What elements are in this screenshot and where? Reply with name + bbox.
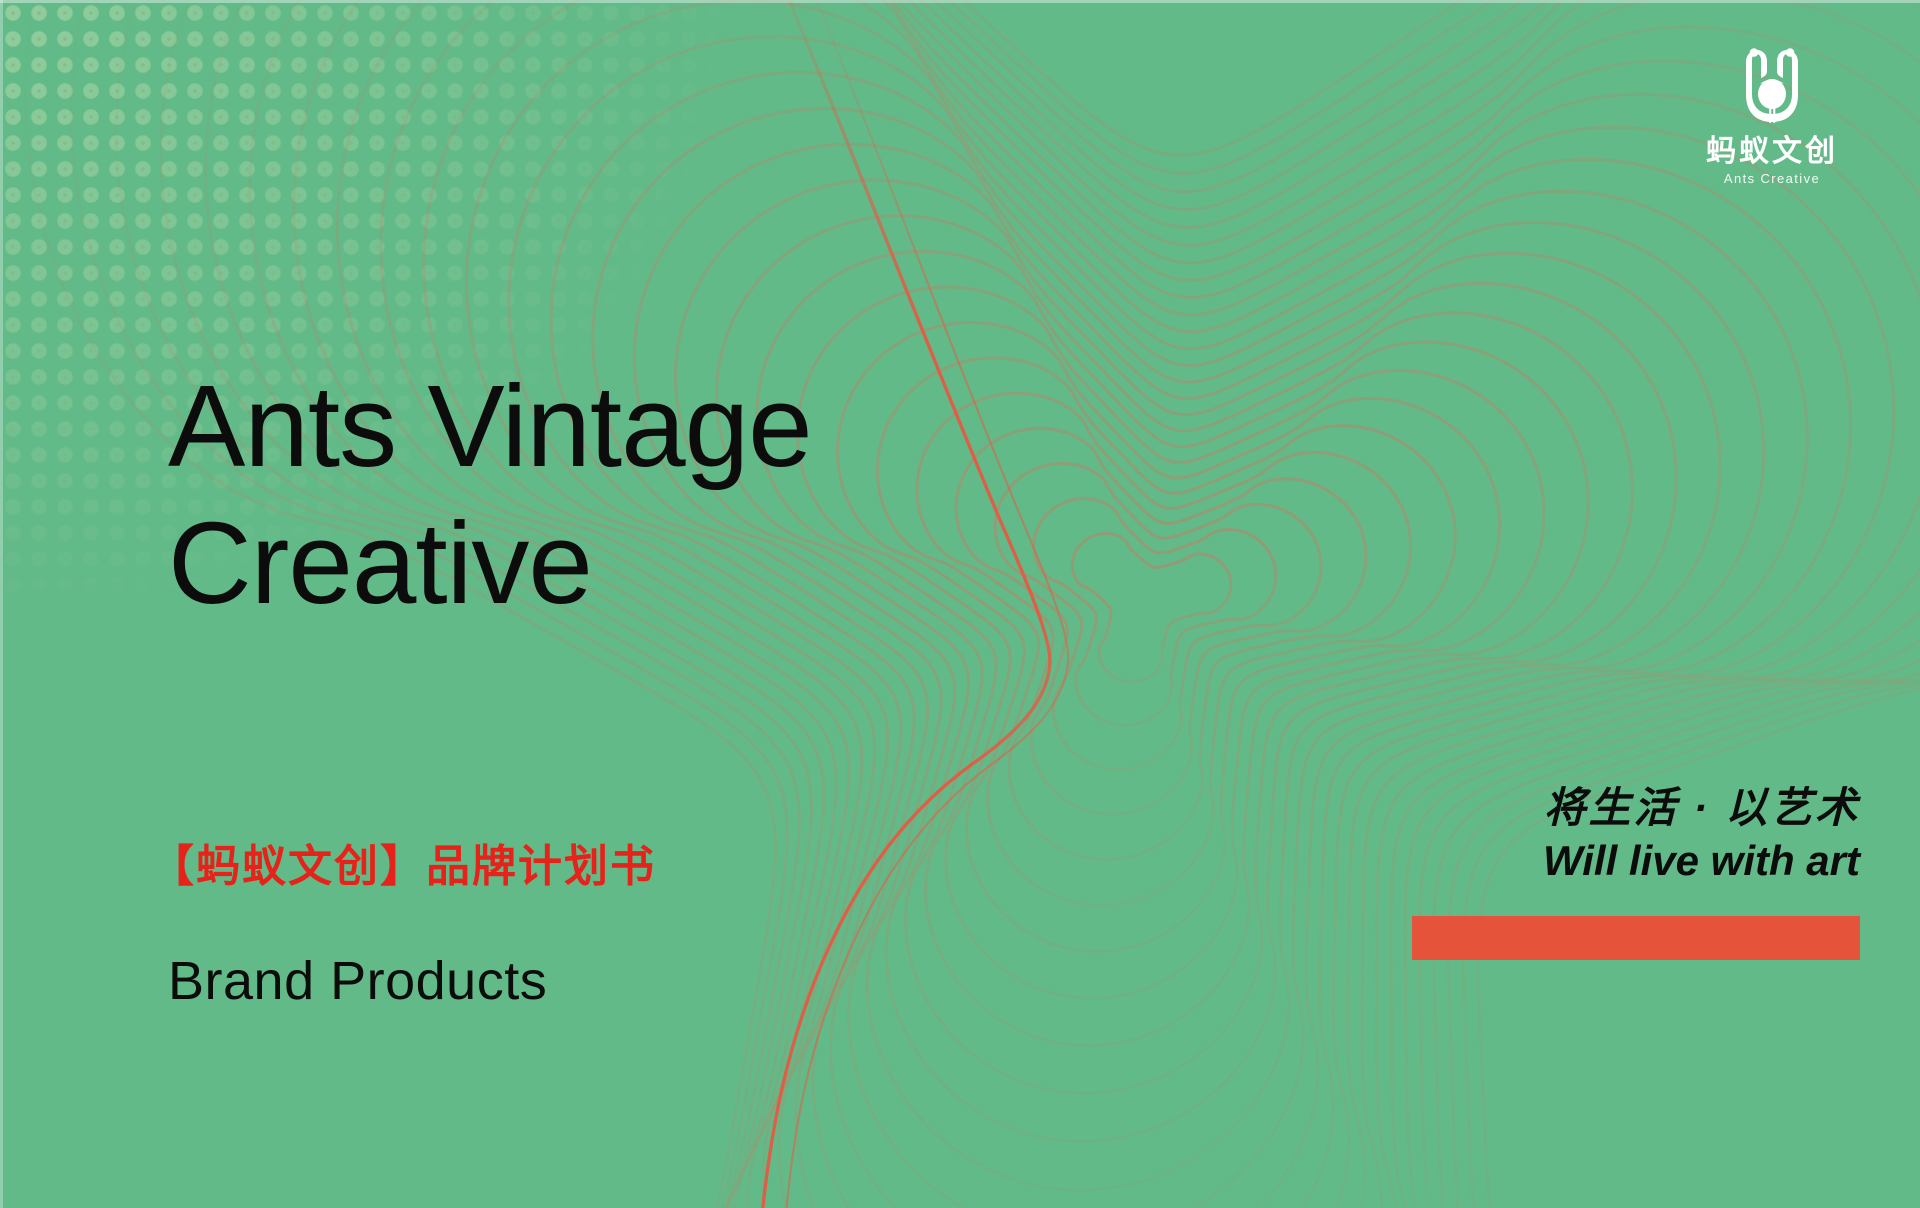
tagline-block: 将生活 · 以艺术 Will live with art	[1410, 782, 1860, 886]
brand-logo: 蚂蚁文创 Ants Creative	[1672, 48, 1872, 186]
contour-ring	[1069, 521, 1240, 687]
ants-magnet-mark	[1734, 48, 1810, 132]
title-line-1: Ants Vintage	[168, 358, 1068, 495]
tagline-english: Will live with art	[1410, 835, 1860, 886]
contour-ring	[1029, 478, 1291, 733]
title-slide: 蚂蚁文创 Ants Creative Ants Vintage Creative…	[0, 0, 1920, 1208]
title-line-2: Creative	[168, 495, 1068, 632]
top-border-rule	[0, 0, 1920, 3]
subtitle-english: Brand Products	[168, 950, 547, 1012]
logo-name-cn: 蚂蚁文创	[1672, 136, 1872, 168]
logo-name-en: Ants Creative	[1672, 171, 1872, 186]
tagline-accent-bar	[1412, 916, 1860, 960]
left-border-rule	[0, 0, 3, 1208]
slide-title: Ants Vintage Creative	[168, 358, 1068, 632]
subtitle-chinese: 【蚂蚁文创】品牌计划书	[150, 830, 656, 894]
tagline-chinese: 将生活 · 以艺术	[1410, 782, 1860, 833]
